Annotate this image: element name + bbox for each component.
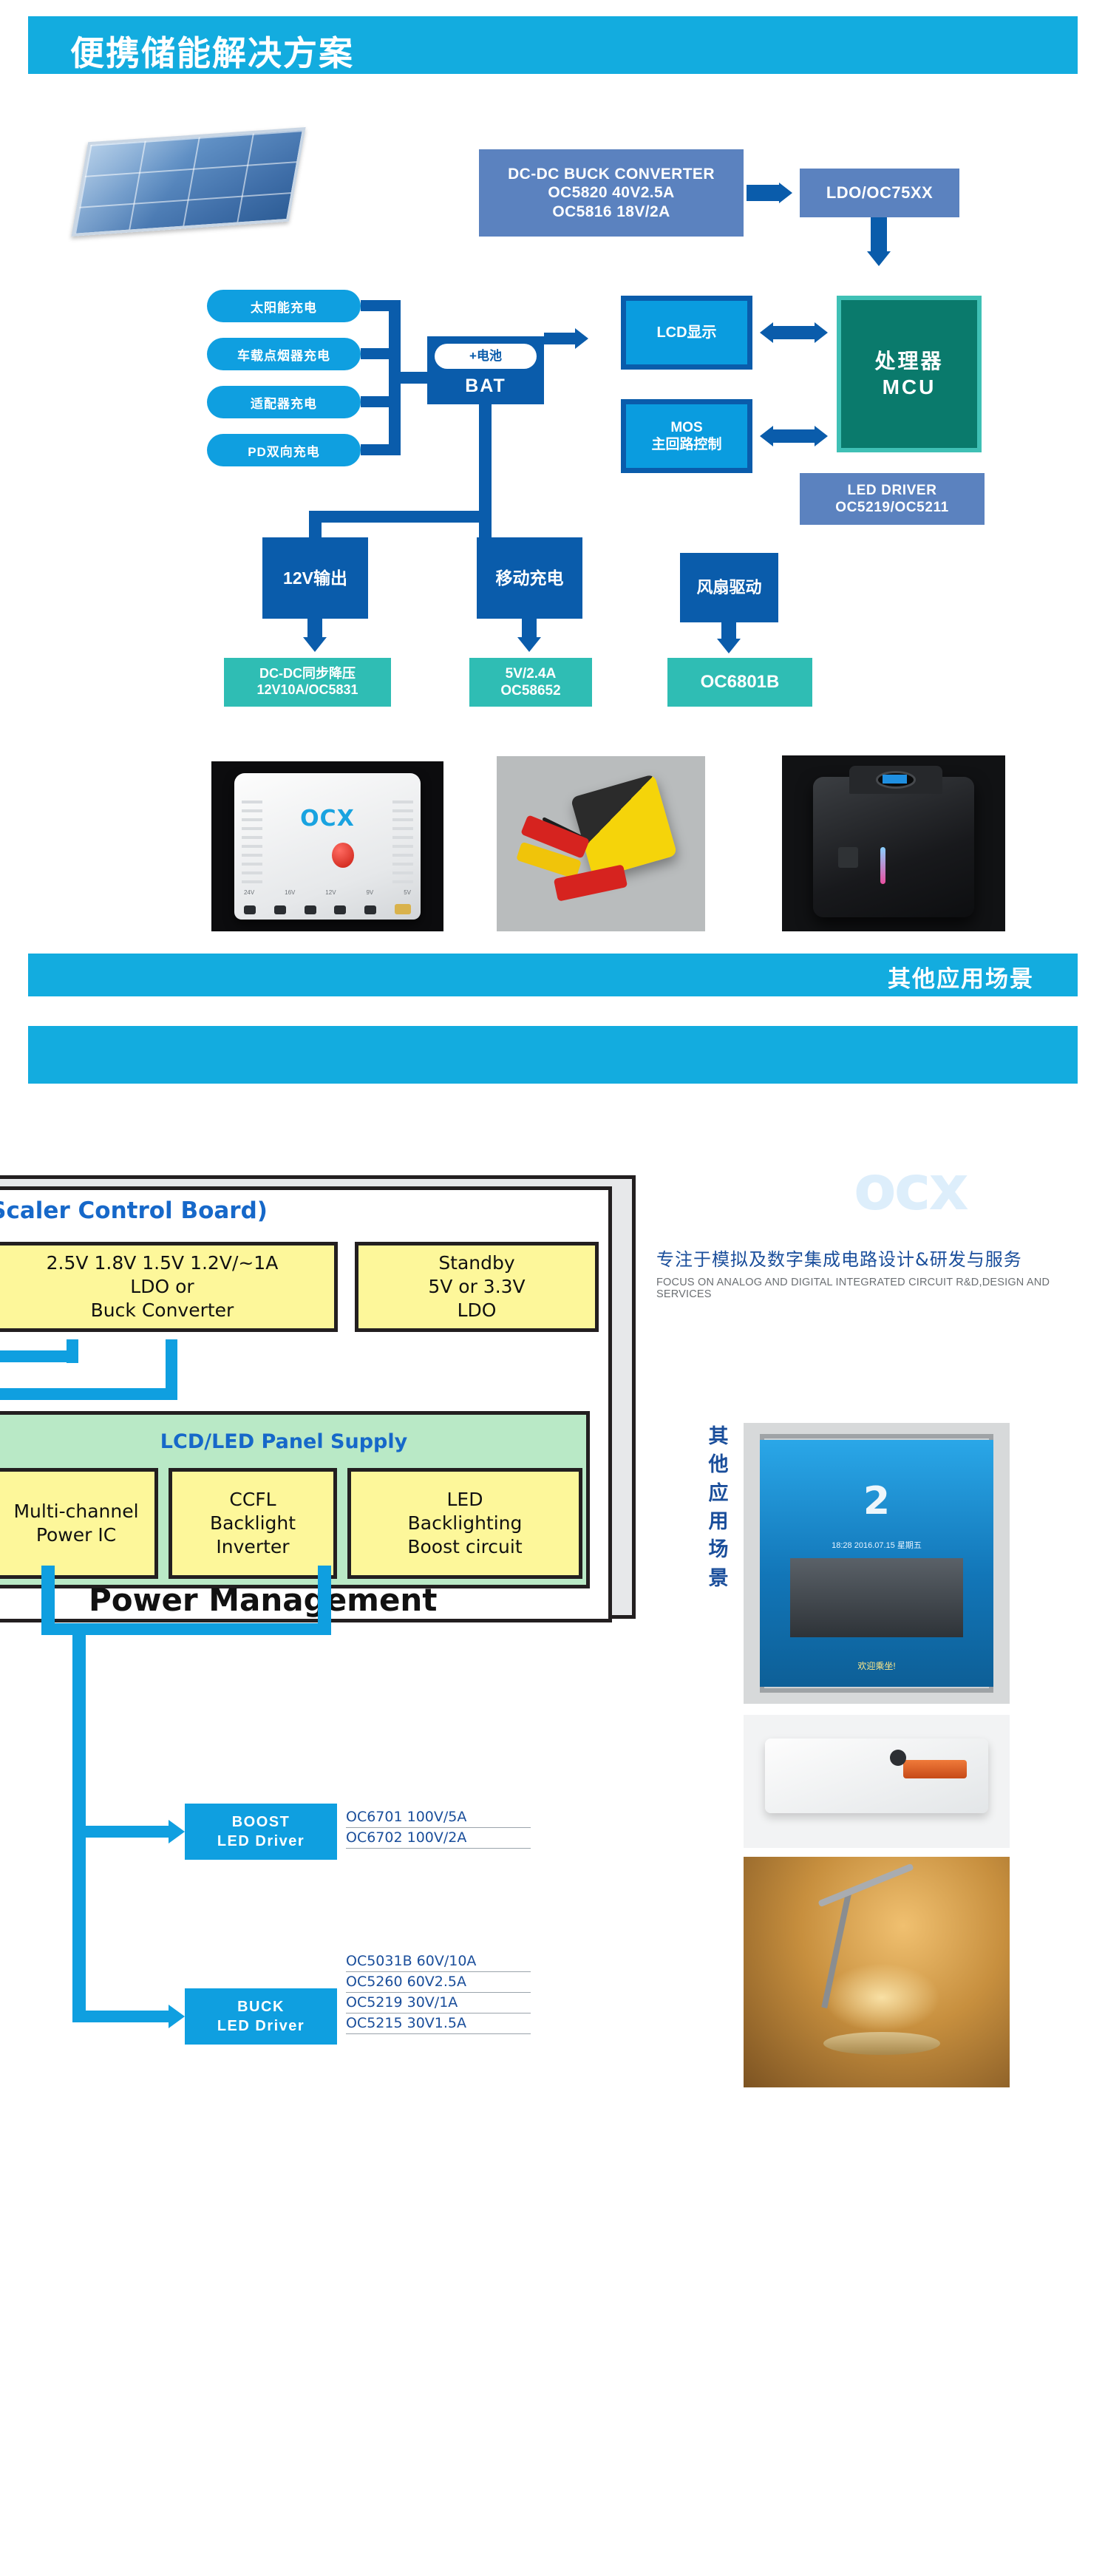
vlabel-char-3: 应 <box>704 1480 733 1508</box>
buck-led-driver-box: BUCK LED Driver <box>185 1988 337 2045</box>
lcd-mcu-link-left-head <box>760 322 773 343</box>
port-label-9v: 9V <box>366 889 373 896</box>
panel-supply-title: LCD/LED Panel Supply <box>0 1430 590 1453</box>
port-labels: 24V 16V 12V 9V 5V <box>244 889 411 896</box>
ccfl-line2: Backlight <box>210 1512 296 1535</box>
section1-banner-label: 其他应用场景 <box>888 960 1034 993</box>
mcu-box: 处理器 MCU <box>837 296 982 452</box>
arrow-ldo-down-head <box>867 251 891 266</box>
arrow-mobile-head <box>517 637 541 652</box>
lcd-display-box: LCD显示 <box>621 296 752 370</box>
arrow-converter-to-ldo-shaft <box>747 185 781 201</box>
port-icon <box>274 905 286 914</box>
result-fan-box: OC6801B <box>667 658 812 707</box>
tagline-chinese: 专注于模拟及数字集成电路设计&研发与服务 <box>656 1245 1022 1271</box>
supply-line-mid-riser <box>166 1339 177 1400</box>
output-stub-12v <box>309 511 322 537</box>
standby-line3: LDO <box>458 1299 497 1322</box>
led-boost-line1: LED <box>447 1488 483 1512</box>
buck-part-1: OC5031B 60V/10A <box>346 1951 531 1972</box>
black-case <box>813 777 973 917</box>
arrow-battery-to-lcd-head <box>575 328 588 349</box>
tagline-english: FOCUS ON ANALOG AND DIGITAL INTEGRATED C… <box>656 1277 1105 1300</box>
ldo-box: LDO/OC75XX <box>800 169 959 217</box>
led-strip-icon <box>880 847 885 884</box>
arrow-mobile-shaft <box>522 619 537 639</box>
converter-line1: DC-DC BUCK CONVERTER <box>508 165 715 184</box>
charge-source-car-lighter-label: 车载点烟器充电 <box>237 345 330 364</box>
battery-pill: +电池 <box>435 344 537 369</box>
monitor-screen: 2 18:28 2016.07.15 星期五 欢迎乘坐! <box>760 1440 994 1687</box>
bus-stub-4 <box>361 444 389 455</box>
screen-number: 2 <box>760 1479 994 1523</box>
ccfl-line1: CCFL <box>229 1488 276 1512</box>
battery-down-bus <box>479 404 492 523</box>
blue-connector <box>883 775 907 784</box>
buck-part-2: OC5260 60V2.5A <box>346 1972 531 1993</box>
vlabel-char-4: 用 <box>704 1508 733 1536</box>
output-fan-driver-label: 风扇驱动 <box>696 578 761 598</box>
mcu-line1: 处理器 <box>874 348 943 374</box>
mos-line2: 主回路控制 <box>651 436 721 453</box>
vlabel-char-2: 他 <box>704 1451 733 1479</box>
result-12v-box: DC-DC同步降压 12V10A/OC5831 <box>224 658 391 707</box>
result-mobile-box: 5V/2.4A OC58652 <box>469 658 592 707</box>
jump-starter-photo <box>497 756 705 931</box>
output-fan-driver-box: 风扇驱动 <box>680 553 778 622</box>
solar-panel-icon <box>71 127 305 237</box>
boost-led-driver-box: BOOST LED Driver <box>185 1804 337 1860</box>
vlabel-char-6: 景 <box>704 1565 733 1593</box>
led-boost-line2: Backlighting <box>408 1512 523 1535</box>
ccfl-backlight-inverter-box: CCFL Backlight Inverter <box>169 1468 337 1579</box>
arrow-converter-to-ldo-head <box>779 183 792 203</box>
battery-box: +电池 BAT <box>427 336 544 404</box>
charge-source-adapter[interactable]: 适配器充电 <box>207 386 361 418</box>
port-row <box>244 897 411 914</box>
page-title: 便携储能解决方案 <box>70 27 354 75</box>
portable-power-station-photo: OCX 24V 16V 12V 9V 5V <box>211 761 443 931</box>
solar-panel-sheen <box>75 130 302 233</box>
multi-channel-power-ic-box: Multi-channel Power IC <box>0 1468 158 1579</box>
output-mobile-charge-label: 移动充电 <box>496 568 564 588</box>
output-12v-label: 12V输出 <box>283 568 347 588</box>
result-12v-line1: DC-DC同步降压 <box>259 666 356 682</box>
result-mobile-line2: OC58652 <box>500 682 560 699</box>
battery-label: BAT <box>427 375 544 398</box>
multi-channel-line2: Power IC <box>36 1523 116 1547</box>
port-label-24v: 24V <box>244 889 254 896</box>
led-driver-box: LED DRIVER OC5219/OC5211 <box>800 473 985 525</box>
vlabel-char-1: 其 <box>704 1423 733 1451</box>
infographic-page: 便携储能解决方案 DC-DC BUCK CONVERTER OC5820 40V… <box>0 0 1105 2576</box>
port-label-5v: 5V <box>404 889 411 896</box>
charge-source-solar-label: 太阳能充电 <box>251 297 317 316</box>
led-driver-line2: OC5219/OC5211 <box>835 499 949 516</box>
ldo-label: LDO/OC75XX <box>826 183 933 203</box>
multi-channel-line1: Multi-channel <box>13 1500 138 1523</box>
led-backlighting-boost-box: LED Backlighting Boost circuit <box>347 1468 582 1579</box>
mos-control-box: MOS 主回路控制 <box>621 399 752 473</box>
bus-stub-1 <box>361 300 389 311</box>
port-icon <box>364 905 376 914</box>
screen-caption: 欢迎乘坐! <box>760 1659 994 1672</box>
converter-line3: OC5816 18V/2A <box>552 203 670 222</box>
lcd-label: LCD显示 <box>656 324 716 341</box>
led-boost-line3: Boost circuit <box>407 1535 522 1559</box>
charge-source-car-lighter[interactable]: 车载点烟器充电 <box>207 338 361 370</box>
charge-source-pd-label: PD双向充电 <box>248 441 320 460</box>
ocx-device-logo: OCX <box>211 806 443 832</box>
mcu-line2: MCU <box>883 374 936 400</box>
led-driver-line1: LED DRIVER <box>847 482 936 499</box>
ocx-logo: ocx <box>854 1152 967 1224</box>
output-bus-horizontal <box>309 511 492 523</box>
route-to-buck <box>72 2011 176 2022</box>
arrow-boost-head <box>169 1820 185 1843</box>
supply-line-left-riser <box>67 1339 78 1363</box>
ceiling-led-panel-photo <box>744 1715 1010 1848</box>
core-voltage-line3: Buck Converter <box>91 1299 234 1322</box>
arrow-buck-head <box>169 2005 185 2028</box>
jump-starter-pack <box>570 774 677 879</box>
output-12v-box: 12V输出 <box>262 537 368 619</box>
lcd-mcu-link-right-head <box>815 322 828 343</box>
standby-box: Standby 5V or 3.3V LDO <box>355 1242 599 1332</box>
port-icon <box>305 905 316 914</box>
output-stub-mobile <box>479 511 492 537</box>
arrow-12v-shaft <box>307 619 322 639</box>
core-voltage-line1: 2.5V 1.8V 1.5V 1.2V/~1A <box>47 1251 279 1275</box>
buck-line1: BUCK <box>237 1997 285 2016</box>
section-divider-bar <box>28 1026 1078 1084</box>
port-label-12v: 12V <box>325 889 336 896</box>
screen-timestamp: 18:28 2016.07.15 星期五 <box>760 1539 994 1551</box>
bus-vertical <box>389 300 401 455</box>
led-desk-lamp-photo <box>744 1857 1010 2087</box>
buck-part-list: OC5031B 60V/10A OC5260 60V2.5A OC5219 30… <box>346 1951 531 2034</box>
core-voltage-line2: LDO or <box>130 1275 194 1299</box>
battery-pill-label: +电池 <box>469 349 502 364</box>
usb-port-icon <box>395 904 411 914</box>
buck-part-3: OC5219 30V/1A <box>346 1993 531 2013</box>
port-icon <box>244 905 256 914</box>
result-12v-line2: 12V10A/OC5831 <box>256 682 358 699</box>
ccfl-line3: Inverter <box>216 1535 289 1559</box>
industrial-lcd-monitor-photo: 2 18:28 2016.07.15 星期五 欢迎乘坐! <box>744 1423 1010 1704</box>
battery-to-lcd-corner <box>563 333 575 339</box>
buck-part-4: OC5215 30V1.5A <box>346 2013 531 2034</box>
route-to-boost <box>72 1826 176 1838</box>
screen-video-area <box>790 1558 963 1637</box>
charge-source-solar[interactable]: 太阳能充电 <box>207 290 361 322</box>
black-power-box-photo <box>782 755 1005 931</box>
bus-stub-2 <box>361 348 389 359</box>
scaler-control-board-title: (Scaler Control Board) <box>0 1197 585 1224</box>
boost-part-2: OC6702 100V/2A <box>346 1828 531 1849</box>
charge-source-adapter-label: 适配器充电 <box>251 393 317 412</box>
boost-line2: LED Driver <box>217 1832 305 1851</box>
buck-line2: LED Driver <box>217 2016 305 2036</box>
application-scenarios-vertical-label: 其 他 应 用 场 景 <box>704 1423 733 1593</box>
panel-sensor-icon <box>890 1750 906 1766</box>
standby-line1: Standby <box>438 1251 514 1275</box>
lamp-glow <box>823 1963 940 2033</box>
boost-line1: BOOST <box>232 1812 290 1832</box>
standby-line2: 5V or 3.3V <box>428 1275 525 1299</box>
port-icon <box>334 905 346 914</box>
mos-mcu-link-left-head <box>760 426 773 446</box>
port-label-16v: 16V <box>285 889 295 896</box>
converter-line2: OC5820 40V2.5A <box>548 183 674 203</box>
arrow-12v-head <box>303 637 327 652</box>
route-main-vertical <box>72 1623 86 2022</box>
mos-mcu-link-right-head <box>815 426 828 446</box>
result-mobile-line1: 5V/2.4A <box>506 665 557 682</box>
charge-source-pd[interactable]: PD双向充电 <box>207 434 361 466</box>
route-top-horizontal <box>72 1623 331 1635</box>
vlabel-char-5: 场 <box>704 1536 733 1564</box>
boost-part-list: OC6701 100V/5A OC6702 100V/2A <box>346 1807 531 1849</box>
output-mobile-charge-box: 移动充电 <box>477 537 582 619</box>
result-fan-line1: OC6801B <box>701 671 780 693</box>
arrow-ldo-down-shaft <box>871 217 887 253</box>
boost-part-1: OC6701 100V/5A <box>346 1807 531 1828</box>
heater-strip-icon <box>903 1760 967 1778</box>
dcdc-buck-converter-box: DC-DC BUCK CONVERTER OC5820 40V2.5A OC58… <box>479 149 744 237</box>
rocker-switch-icon[interactable] <box>838 847 858 869</box>
power-management-label: Power Management <box>89 1582 437 1618</box>
bus-stub-3 <box>361 396 389 407</box>
arrow-fan-head <box>717 639 741 653</box>
mos-mcu-link-shaft <box>773 429 815 443</box>
mos-line1: MOS <box>670 419 702 436</box>
lcd-mcu-link-shaft <box>773 326 815 339</box>
core-voltage-box: 2.5V 1.8V 1.5V 1.2V/~1A LDO or Buck Conv… <box>0 1242 338 1332</box>
supply-line-left-bottom <box>0 1388 176 1400</box>
